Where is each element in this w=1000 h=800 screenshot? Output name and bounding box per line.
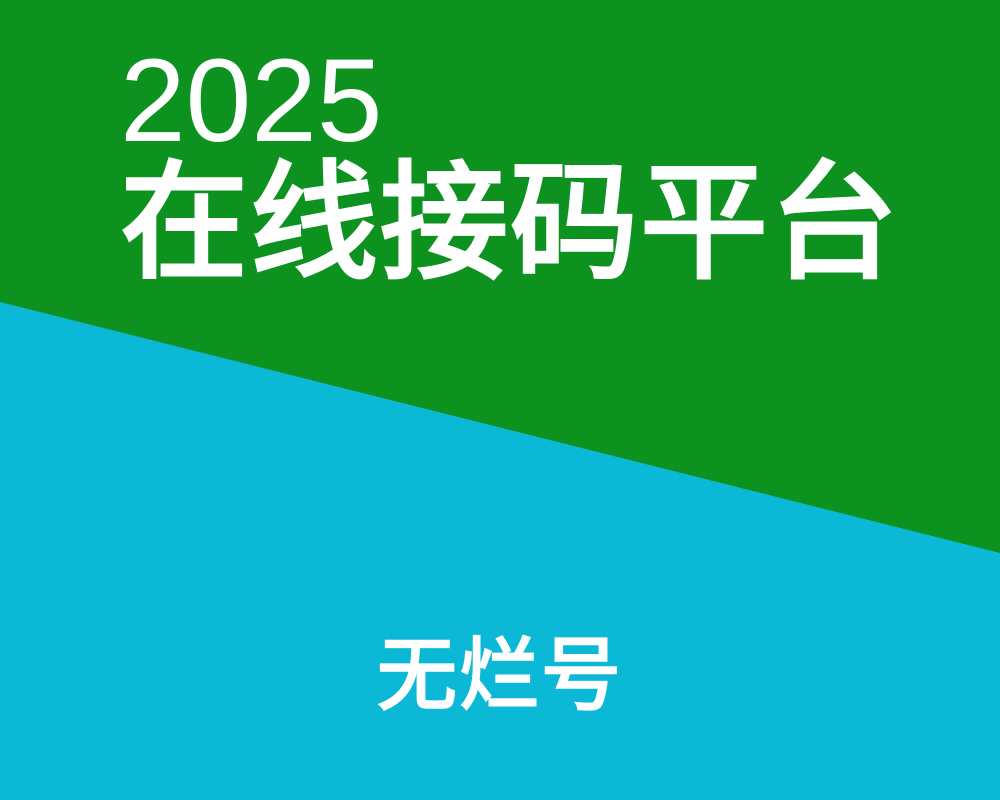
headline-block: 2025 在线接码平台 — [120, 40, 940, 290]
headline-year: 2025 — [120, 40, 940, 164]
tagline-block: 无烂号 — [0, 636, 1000, 716]
promo-banner: 2025 在线接码平台 无烂号 — [0, 0, 1000, 800]
headline-title: 在线接码平台 — [120, 158, 940, 290]
tagline-text: 无烂号 — [377, 636, 623, 716]
